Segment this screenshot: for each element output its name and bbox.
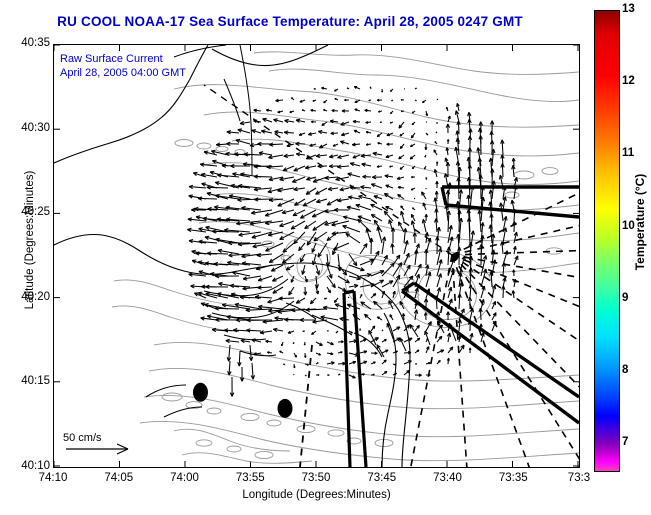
colorbar-tick-7: 7 — [622, 436, 628, 448]
figure-title: RU COOL NOAA-17 Sea Surface Temperature:… — [0, 14, 580, 29]
x-tick-6: 73:40 — [418, 472, 478, 484]
y-tick-1: 40:30 — [6, 122, 50, 134]
y-axis: Latitude (Degrees:Minutes) 40:3540:3040:… — [0, 44, 50, 468]
annotation-line-2: April 28, 2005 04:00 GMT — [60, 66, 186, 80]
x-tick-4: 73:50 — [286, 472, 346, 484]
sst-figure: RU COOL NOAA-17 Sea Surface Temperature:… — [0, 0, 651, 515]
y-tick-3: 40:20 — [6, 291, 50, 303]
map-plot-area — [53, 44, 580, 468]
x-tick-0: 74:10 — [23, 472, 83, 484]
y-tick-2: 40:25 — [6, 206, 50, 218]
y-tick-4: 40:15 — [6, 375, 50, 387]
x-tick-2: 74:00 — [155, 472, 215, 484]
colorbar-label: Temperature (°C) — [633, 142, 647, 302]
station-marker-0 — [193, 383, 208, 402]
x-tick-3: 73:55 — [220, 472, 280, 484]
colorbar-tick-9: 9 — [622, 292, 628, 304]
scale-bar-label: 50 cm/s — [63, 432, 102, 444]
y-tick-5: 40:10 — [6, 460, 50, 472]
colorbar-tick-8: 8 — [622, 364, 628, 376]
map-canvas — [54, 45, 579, 467]
x-axis-label: Longitude (Degrees:Minutes) — [53, 489, 580, 501]
annotation-line-1: Raw Surface Current — [60, 52, 163, 66]
x-tick-7: 73:35 — [483, 472, 543, 484]
x-tick-5: 73:45 — [352, 472, 412, 484]
colorbar — [594, 10, 620, 472]
x-tick-8: 73:3 — [549, 472, 609, 484]
station-marker-1 — [278, 399, 293, 418]
y-tick-0: 40:35 — [6, 37, 50, 49]
x-axis-ticks: 74:1074:0574:0073:5573:5073:4573:4073:35… — [0, 472, 651, 488]
x-tick-1: 74:05 — [89, 472, 149, 484]
colorbar-tick-13: 13 — [622, 3, 635, 15]
colorbar-tick-12: 12 — [622, 75, 635, 87]
